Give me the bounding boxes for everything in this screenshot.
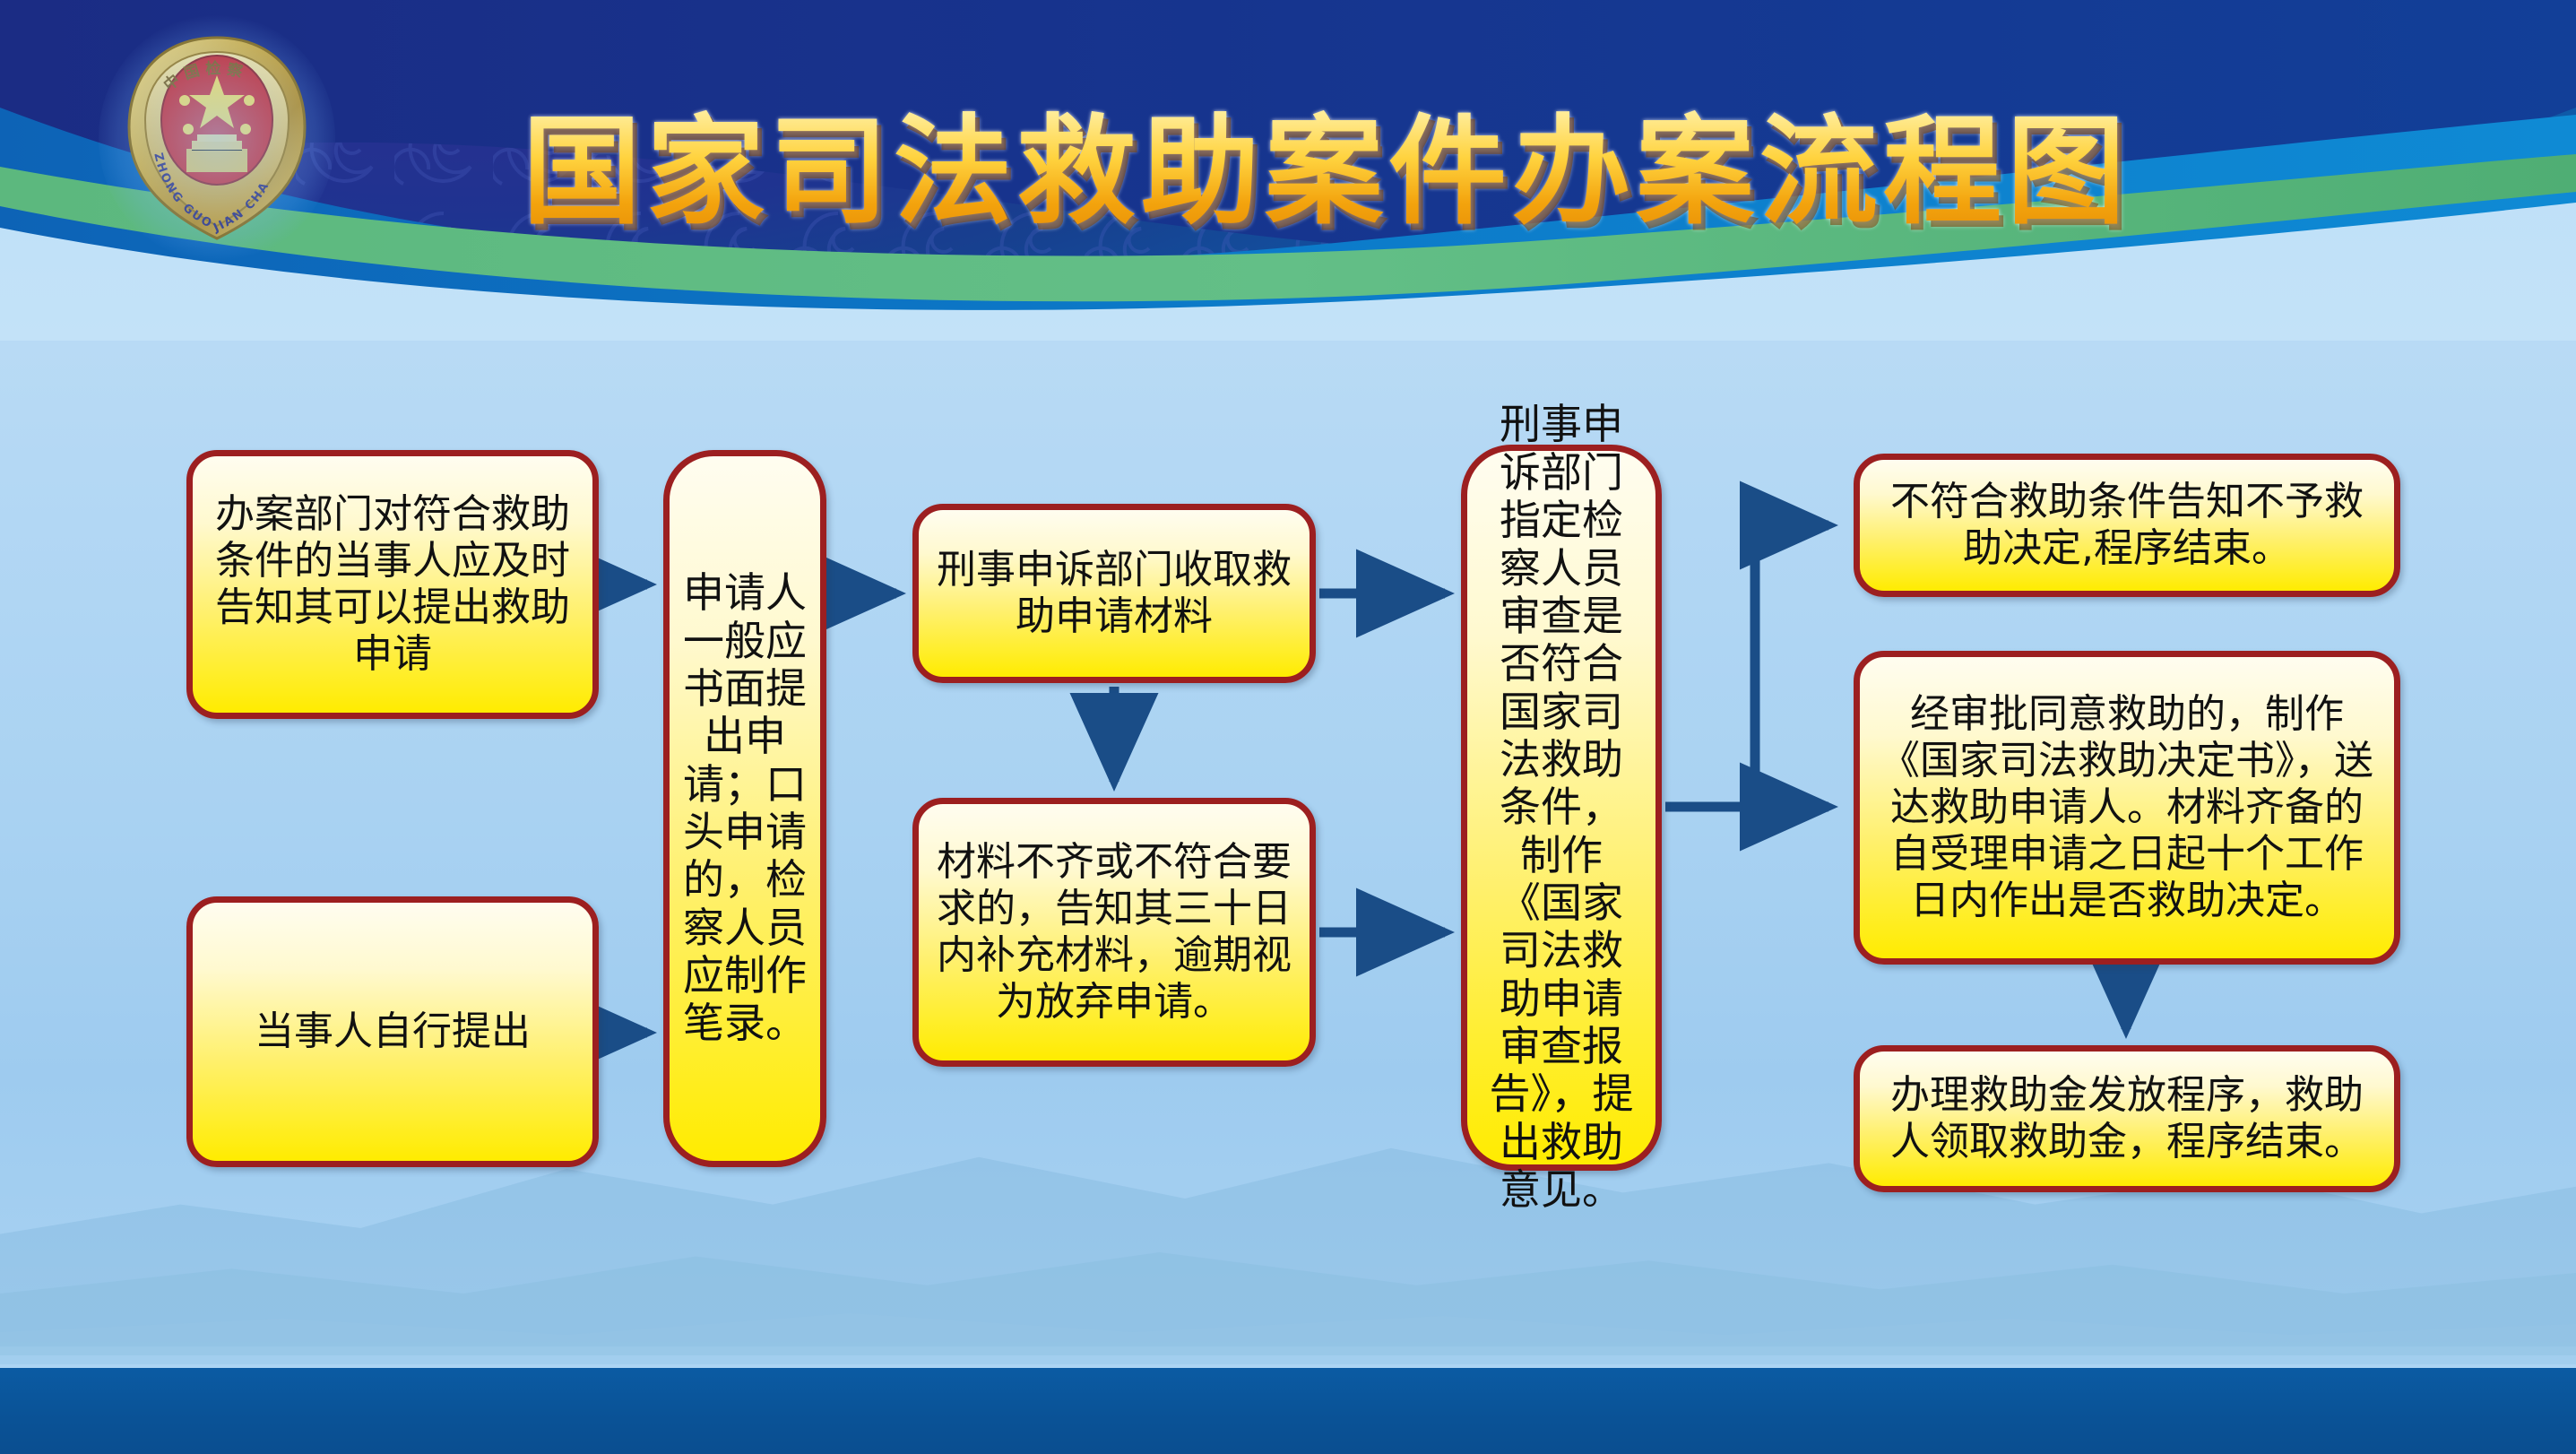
flow-node-payout-label: 办理救助金发放程序，救助人领取救助金，程序结束。	[1860, 1072, 2394, 1165]
page-title: 国家司法救助案件办案流程图	[448, 100, 2205, 244]
flow-node-review[interactable]: 刑事申诉部门指定检察人员审查是否符合国家司法救助条件，制作《国家司法救助申请审查…	[1461, 445, 1662, 1171]
flow-node-collect[interactable]: 刑事申诉部门收取救助申请材料	[912, 504, 1316, 683]
flow-node-notify[interactable]: 办案部门对符合救助条件的当事人应及时告知其可以提出救助申请	[186, 450, 599, 719]
flow-node-approve-label: 经审批同意救助的，制作《国家司法救助决定书》，送达救助申请人。材料齐备的自受理申…	[1860, 691, 2394, 924]
flow-node-notify-label: 办案部门对符合救助条件的当事人应及时告知其可以提出救助申请	[193, 491, 592, 678]
emblem-glow	[99, 14, 335, 262]
footer-band	[0, 1368, 2576, 1454]
flow-node-written[interactable]: 申请人一般应书面提出申请；口头申请的，检察人员应制作笔录。	[663, 450, 826, 1167]
flow-node-reject-label: 不符合救助条件告知不予救助决定,程序结束。	[1860, 479, 2394, 572]
flow-node-incomplete-label: 材料不齐或不符合要求的，告知其三十日内补充材料，逾期视为放弃申请。	[919, 839, 1310, 1026]
flow-node-incomplete[interactable]: 材料不齐或不符合要求的，告知其三十日内补充材料，逾期视为放弃申请。	[912, 798, 1316, 1067]
flow-node-review-label: 刑事申诉部门指定检察人员审查是否符合国家司法救助条件，制作《国家司法救助申请审查…	[1467, 401, 1655, 1214]
flow-node-written-label: 申请人一般应书面提出申请；口头申请的，检察人员应制作笔录。	[670, 569, 820, 1048]
flow-node-collect-label: 刑事申诉部门收取救助申请材料	[919, 547, 1310, 640]
flow-node-approve[interactable]: 经审批同意救助的，制作《国家司法救助决定书》，送达救助申请人。材料齐备的自受理申…	[1854, 651, 2400, 965]
procuratorate-emblem: ZHONG GUO JIAN CHA 中 国 检 察	[118, 34, 316, 242]
flow-node-selfapply[interactable]: 当事人自行提出	[186, 896, 599, 1167]
poster-canvas: ZHONG GUO JIAN CHA 中 国 检 察 国家司法救助案件办案流程图	[0, 0, 2576, 1454]
flow-node-reject[interactable]: 不符合救助条件告知不予救助决定,程序结束。	[1854, 454, 2400, 597]
flow-node-payout[interactable]: 办理救助金发放程序，救助人领取救助金，程序结束。	[1854, 1045, 2400, 1192]
flow-node-selfapply-label: 当事人自行提出	[193, 1008, 592, 1055]
